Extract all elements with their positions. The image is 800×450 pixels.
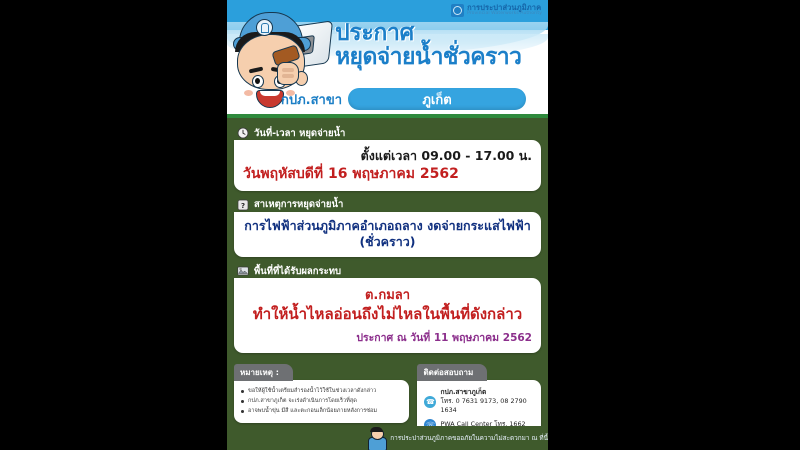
- reason-line-2: (ชั่วคราว): [243, 234, 532, 250]
- section-reason: ? สาเหตุการหยุดจ่ายน้ำ การไฟฟ้าส่วนภูมิภ…: [234, 196, 541, 258]
- datetime-card: ตั้งแต่เวลา 09.00 - 17.00 น. วันพฤหัสบดี…: [234, 140, 541, 191]
- apology-strip: การประปาส่วนภูมิภาคขออภัยในความไม่สะดวกม…: [227, 426, 548, 450]
- note-text: กปภ.สาขาภูเก็ต จะเร่งดำเนินการโดยเร็วที่…: [248, 397, 357, 405]
- mascot-hand: [277, 62, 299, 85]
- poster-header: การประปาส่วนภูมิภาค Provincial Waterwork…: [227, 0, 548, 118]
- pwa-logo-english: Provincial Waterworks Authority: [467, 12, 542, 17]
- datetime-tab: วันที่-เวลา หยุดจ่ายน้ำ: [234, 125, 357, 142]
- mascot-illustration: [233, 10, 341, 94]
- section-datetime: วันที่-เวลา หยุดจ่ายน้ำ ตั้งแต่เวลา 09.0…: [234, 124, 541, 191]
- announced-date: ประกาศ ณ วันที่ 11 พฤษภาคม 2562: [243, 329, 532, 346]
- mascot-brow-left: [249, 67, 264, 74]
- datetime-label: วันที่-เวลา หยุดจ่ายน้ำ: [254, 126, 345, 141]
- area-line-2: ทำให้น้ำไหลอ่อนถึงไม่ไหลในพื้นที่ดังกล่า…: [243, 305, 532, 325]
- reason-tab: ? สาเหตุการหยุดจ่ายน้ำ: [234, 196, 355, 213]
- question-mark-icon: ?: [237, 199, 249, 211]
- notes-label: หมายเหตุ :: [234, 364, 293, 381]
- note-item: กปภ.สาขาภูเก็ต จะเร่งดำเนินการโดยเร็วที่…: [241, 397, 402, 405]
- screenshot-canvas: การประปาส่วนภูมิภาค Provincial Waterwork…: [0, 0, 800, 450]
- pwa-logo-text: การประปาส่วนภูมิภาค Provincial Waterwork…: [467, 4, 542, 17]
- poster-body: วันที่-เวลา หยุดจ่ายน้ำ ตั้งแต่เวลา 09.0…: [227, 118, 548, 353]
- notes-card: ขอให้ผู้ใช้น้ำเตรียมสำรองน้ำไว้ใช้ในช่วง…: [234, 380, 409, 423]
- area-card: ต.กมลา ทำให้น้ำไหลอ่อนถึงไม่ไหลในพื้นที่…: [234, 278, 541, 353]
- announcement-poster: การประปาส่วนภูมิภาค Provincial Waterwork…: [227, 0, 548, 450]
- telephone-icon: ☎: [424, 396, 436, 408]
- contact-label: ติดต่อสอบถาม: [417, 364, 487, 381]
- note-text: ขอให้ผู้ใช้น้ำเตรียมสำรองน้ำไว้ใช้ในช่วง…: [248, 387, 376, 395]
- contact-item[interactable]: ☎ กปภ.สาขาภูเก็ต โทร. 0 7631 9173, 08 27…: [424, 388, 534, 416]
- bullet-icon: [241, 410, 244, 413]
- contact-text: กปภ.สาขาภูเก็ต โทร. 0 7631 9173, 08 2790…: [440, 388, 534, 416]
- branch-label: กปภ.สาขา: [281, 89, 342, 110]
- contact-name: กปภ.สาขาภูเก็ต: [440, 388, 534, 398]
- bullet-icon: [241, 390, 244, 393]
- apology-text: การประปาส่วนภูมิภาคขออภัยในความไม่สะดวกม…: [390, 433, 548, 443]
- pwa-logo-mark-icon: [451, 4, 464, 17]
- poster-title: ประกาศ หยุดจ่ายน้ำชั่วคราว: [335, 22, 541, 70]
- reason-card: การไฟฟ้าส่วนภูมิภาคอำเภอถลาง งดจ่ายกระแส…: [234, 212, 541, 258]
- note-text: อาจพบน้ำขุ่น มีสี และตะกอนเล็กน้อยภายหลั…: [248, 407, 377, 415]
- mascot-eye-left: [252, 75, 264, 88]
- hard-hat-badge-icon: [256, 19, 273, 36]
- datetime-time: ตั้งแต่เวลา 09.00 - 17.00 น.: [243, 146, 532, 166]
- area-tab: พื้นที่ที่ได้รับผลกระทบ: [234, 263, 353, 280]
- title-line-1: ประกาศ: [335, 22, 541, 45]
- reason-line-1: การไฟฟ้าส่วนภูมิภาคอำเภอถลาง งดจ่ายกระแส…: [243, 218, 532, 234]
- clock-icon: [237, 127, 249, 139]
- svg-text:?: ?: [241, 201, 245, 209]
- branch-name-pill: ภูเก็ต: [348, 88, 526, 110]
- note-item: ขอให้ผู้ใช้น้ำเตรียมสำรองน้ำไว้ใช้ในช่วง…: [241, 387, 402, 395]
- section-area: พื้นที่ที่ได้รับผลกระทบ ต.กมลา ทำให้น้ำไ…: [234, 262, 541, 353]
- branch-row: กปภ.สาขา ภูเก็ต: [227, 88, 548, 110]
- title-line-2: หยุดจ่ายน้ำชั่วคราว: [335, 45, 541, 69]
- bullet-icon: [241, 400, 244, 403]
- note-item: อาจพบน้ำขุ่น มีสี และตะกอนเล็กน้อยภายหลั…: [241, 407, 402, 415]
- area-label: พื้นที่ที่ได้รับผลกระทบ: [254, 264, 341, 279]
- contact-phone: โทร. 0 7631 9173, 08 2790 1634: [440, 397, 526, 414]
- area-line-1: ต.กมลา: [243, 284, 532, 305]
- map-area-icon: [237, 265, 249, 277]
- pwa-logo: การประปาส่วนภูมิภาค Provincial Waterwork…: [451, 4, 542, 17]
- mascot-mini-icon: [368, 428, 385, 449]
- reason-label: สาเหตุการหยุดจ่ายน้ำ: [254, 197, 343, 212]
- datetime-date: วันพฤหัสบดีที่ 16 พฤษภาคม 2562: [243, 166, 532, 184]
